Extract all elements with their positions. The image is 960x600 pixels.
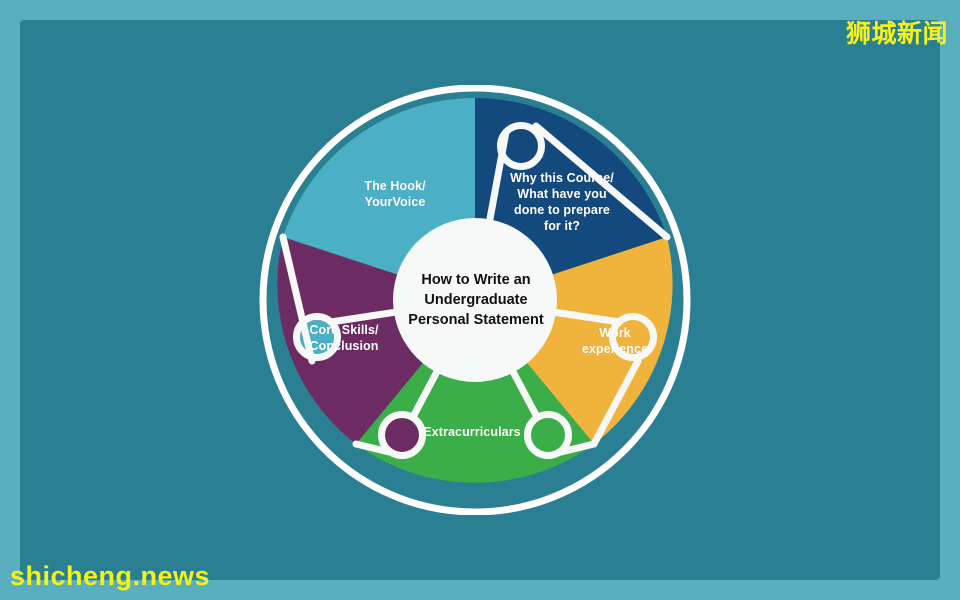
segment-label-hook: The Hook/ YourVoice <box>330 178 460 210</box>
diagram-center-title: How to Write an Undergraduate Personal S… <box>385 270 567 330</box>
segment-label-extracurriculars: Extracurriculars <box>392 424 552 440</box>
puzzle-wheel-diagram: The Hook/ YourVoice Why this Course/ Wha… <box>0 0 960 600</box>
segment-label-why-course: Why this Course/ What have you done to p… <box>488 170 636 234</box>
screenshot-canvas: The Hook/ YourVoice Why this Course/ Wha… <box>0 0 960 600</box>
watermark-bottom-left: shicheng.news <box>10 561 210 592</box>
watermark-top-right: 狮城新闻 <box>846 14 948 50</box>
segment-label-work-experience: Work experience <box>560 325 670 357</box>
